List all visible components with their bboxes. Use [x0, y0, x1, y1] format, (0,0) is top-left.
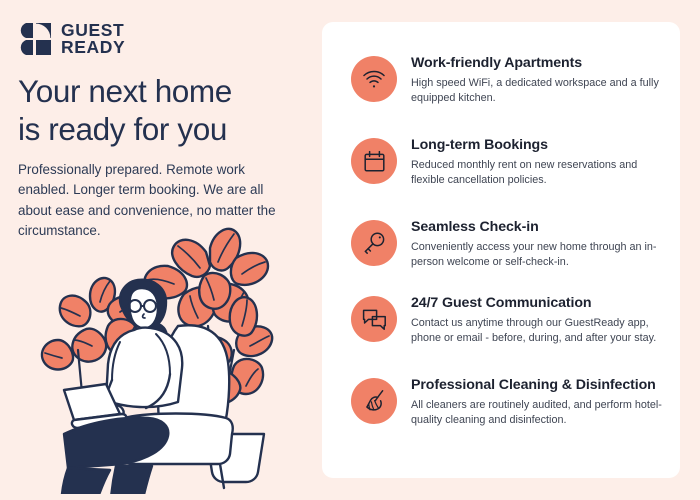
feature-description: All cleaners are routinely audited, and …	[411, 398, 663, 429]
features-card: Work-friendly Apartments High speed WiFi…	[322, 22, 680, 478]
feature-item-professional-cleaning[interactable]: Professional Cleaning & Disinfection All…	[351, 376, 663, 429]
feature-description: Reduced monthly rent on new reservations…	[411, 158, 663, 189]
key-icon	[351, 220, 397, 266]
wifi-icon	[351, 56, 397, 102]
feature-item-seamless-check-in[interactable]: Seamless Check-in Conveniently access yo…	[351, 218, 663, 271]
feature-description: Conveniently access your new home throug…	[411, 240, 663, 271]
feature-title: Professional Cleaning & Disinfection	[411, 377, 663, 394]
feature-title: Long-term Bookings	[411, 137, 663, 154]
page-title: Your next home is ready for you	[18, 72, 308, 149]
chat-bubbles-icon	[351, 296, 397, 342]
feature-title: Work-friendly Apartments	[411, 55, 663, 72]
feature-text-block: Professional Cleaning & Disinfection All…	[411, 376, 663, 429]
calendar-icon	[351, 138, 397, 184]
hero-column: GUEST READY Your next home is ready for …	[0, 0, 312, 500]
feature-item-guest-communication[interactable]: 24/7 Guest Communication Contact us anyt…	[351, 294, 663, 347]
feature-text-block: Long-term Bookings Reduced monthly rent …	[411, 136, 663, 189]
brand-wordmark: GUEST READY	[61, 22, 125, 56]
feature-title: Seamless Check-in	[411, 219, 663, 236]
feature-title: 24/7 Guest Communication	[411, 295, 663, 312]
feature-text-block: Work-friendly Apartments High speed WiFi…	[411, 54, 663, 107]
feature-item-work-friendly-apartments[interactable]: Work-friendly Apartments High speed WiFi…	[351, 54, 663, 107]
hero-illustration	[28, 222, 312, 494]
brand-logo[interactable]: GUEST READY	[18, 22, 125, 56]
feature-description: High speed WiFi, a dedicated workspace a…	[411, 76, 663, 107]
feature-item-long-term-bookings[interactable]: Long-term Bookings Reduced monthly rent …	[351, 136, 663, 189]
brand-name-line2: READY	[61, 39, 125, 56]
promo-page: GUEST READY Your next home is ready for …	[0, 0, 700, 500]
feature-text-block: Seamless Check-in Conveniently access yo…	[411, 218, 663, 271]
broom-icon	[351, 378, 397, 424]
feature-text-block: 24/7 Guest Communication Contact us anyt…	[411, 294, 663, 347]
feature-description: Contact us anytime through our GuestRead…	[411, 316, 663, 347]
guestready-quadrant-logo-icon	[18, 23, 52, 55]
